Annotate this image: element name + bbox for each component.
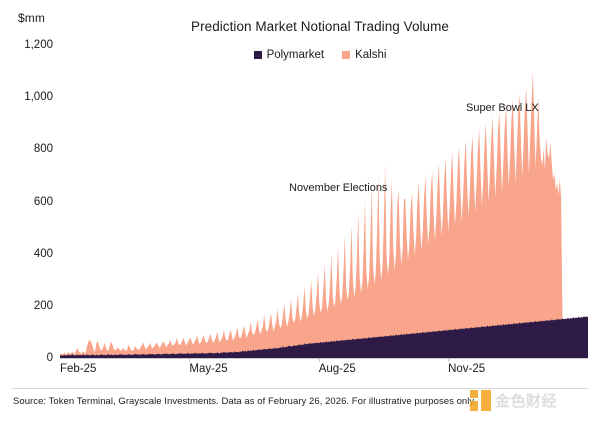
annotation-november-elections: November Elections	[289, 182, 387, 194]
source-note: Source: Token Terminal, Grayscale Invest…	[13, 396, 476, 407]
chart-title: Prediction Market Notional Trading Volum…	[0, 19, 600, 34]
x-axis-tick-mark	[319, 358, 320, 362]
x-axis-tick-nov-25: Nov-25	[448, 363, 485, 375]
y-axis-tick-0: 0	[0, 352, 53, 364]
area-series-kalshi	[60, 71, 588, 358]
annotation-super-bowl: Super Bowl LX	[466, 102, 539, 114]
x-axis-tick-feb-25: Feb-25	[60, 363, 96, 375]
footer-divider	[12, 388, 588, 389]
y-axis-tick-1200: 1,200	[0, 39, 53, 51]
chart-container: $mm Prediction Market Notional Trading V…	[0, 0, 600, 424]
watermark: 金色财经	[470, 386, 592, 414]
x-axis-tick-mark	[448, 358, 449, 362]
y-axis-tick-1000: 1,000	[0, 91, 53, 103]
y-axis-tick-800: 800	[0, 143, 53, 155]
x-axis-tick-mark	[189, 358, 190, 362]
y-axis-tick-200: 200	[0, 300, 53, 312]
x-axis-line	[60, 358, 588, 359]
watermark-text: 金色财经	[495, 390, 557, 411]
y-axis-tick-600: 600	[0, 196, 53, 208]
x-axis-tick-may-25: May-25	[189, 363, 227, 375]
x-axis-tick-aug-25: Aug-25	[319, 363, 356, 375]
stacked-area-svg	[60, 45, 588, 358]
plot-area	[60, 45, 588, 358]
y-axis-tick-400: 400	[0, 248, 53, 260]
